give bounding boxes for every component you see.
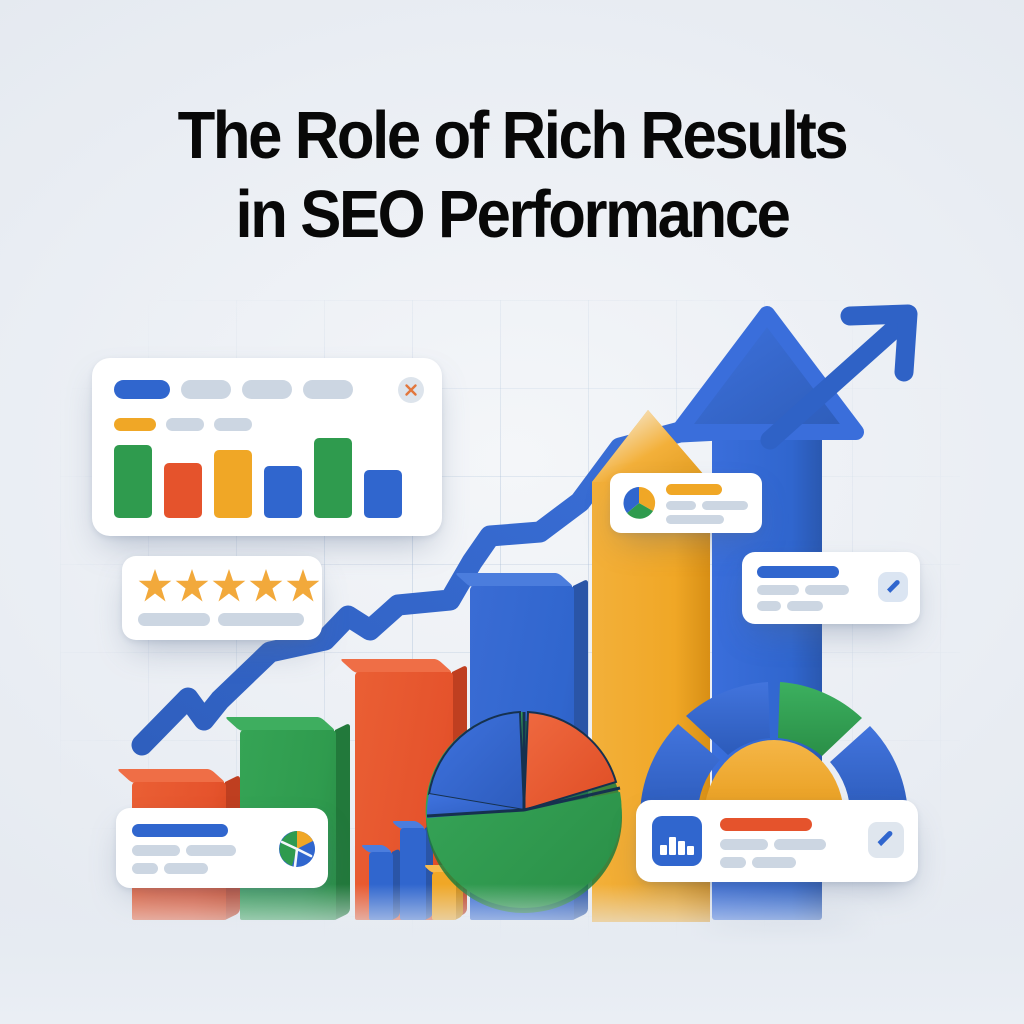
text-line xyxy=(132,845,180,856)
tab-pill-row xyxy=(114,380,353,399)
card-bar xyxy=(264,466,302,518)
text-line xyxy=(132,863,158,874)
bar-chart-icon[interactable] xyxy=(652,816,702,866)
tab-pill[interactable] xyxy=(181,380,231,399)
text-line xyxy=(752,857,796,868)
pen-edit-icon[interactable] xyxy=(878,572,908,602)
tab-pill-active[interactable] xyxy=(114,380,170,399)
floor-gradient xyxy=(0,884,1024,1024)
text-line xyxy=(757,585,799,595)
text-line xyxy=(720,839,768,850)
pie-chart-icon xyxy=(622,486,656,520)
filter-pill[interactable] xyxy=(214,418,252,431)
star-icon[interactable] xyxy=(138,569,172,603)
text-line xyxy=(805,585,849,595)
pie-snippet-card[interactable] xyxy=(610,473,762,533)
card-bar xyxy=(214,450,252,518)
star-icon[interactable] xyxy=(175,569,209,603)
globe-snippet-card[interactable] xyxy=(116,808,328,888)
page-title-line-1: The Role of Rich Results xyxy=(41,96,983,175)
title-pill xyxy=(757,566,839,578)
card-bar xyxy=(114,445,152,518)
star-icon[interactable] xyxy=(286,569,320,603)
text-line xyxy=(702,501,748,510)
text-line xyxy=(666,501,696,510)
filter-pill-row xyxy=(114,418,252,431)
title-pill xyxy=(132,824,228,837)
card-bar xyxy=(314,438,352,518)
star-row xyxy=(138,569,320,603)
edit-snippet-card[interactable] xyxy=(742,552,920,624)
poster-canvas: The Role of Rich Results in SEO Performa… xyxy=(0,0,1024,1024)
text-line xyxy=(787,601,823,611)
title-pill xyxy=(666,484,722,495)
tab-pill[interactable] xyxy=(242,380,292,399)
coverage-gauge xyxy=(634,636,914,826)
text-line xyxy=(164,863,208,874)
card-bar xyxy=(164,463,202,518)
globe-pie-icon[interactable] xyxy=(278,830,316,868)
filter-pill[interactable] xyxy=(166,418,204,431)
text-line xyxy=(774,839,826,850)
title-pill xyxy=(720,818,812,831)
text-line xyxy=(138,613,210,626)
close-x-icon[interactable] xyxy=(398,377,424,403)
text-line xyxy=(666,515,724,524)
bar-top-face xyxy=(116,769,226,783)
card-bar xyxy=(364,470,402,518)
analytics-snippet-card[interactable] xyxy=(636,800,918,882)
pen-edit-icon[interactable] xyxy=(868,822,904,858)
star-icon[interactable] xyxy=(249,569,283,603)
text-line xyxy=(720,857,746,868)
star-rating-card[interactable] xyxy=(122,556,322,640)
main-pie-chart xyxy=(424,710,624,910)
bar-top-face xyxy=(454,573,574,587)
text-line xyxy=(186,845,236,856)
page-title-line-2: in SEO Performance xyxy=(41,175,983,254)
page-title: The Role of Rich Results in SEO Performa… xyxy=(41,96,983,254)
bar-top-face xyxy=(339,659,453,673)
bar-top-face xyxy=(224,717,336,731)
tab-pill[interactable] xyxy=(303,380,353,399)
search-results-card[interactable] xyxy=(92,358,442,536)
text-line xyxy=(757,601,781,611)
text-line-row xyxy=(138,613,304,626)
filter-pill-active[interactable] xyxy=(114,418,156,431)
card-bar-chart xyxy=(114,438,420,518)
text-line xyxy=(218,613,304,626)
star-icon[interactable] xyxy=(212,569,246,603)
